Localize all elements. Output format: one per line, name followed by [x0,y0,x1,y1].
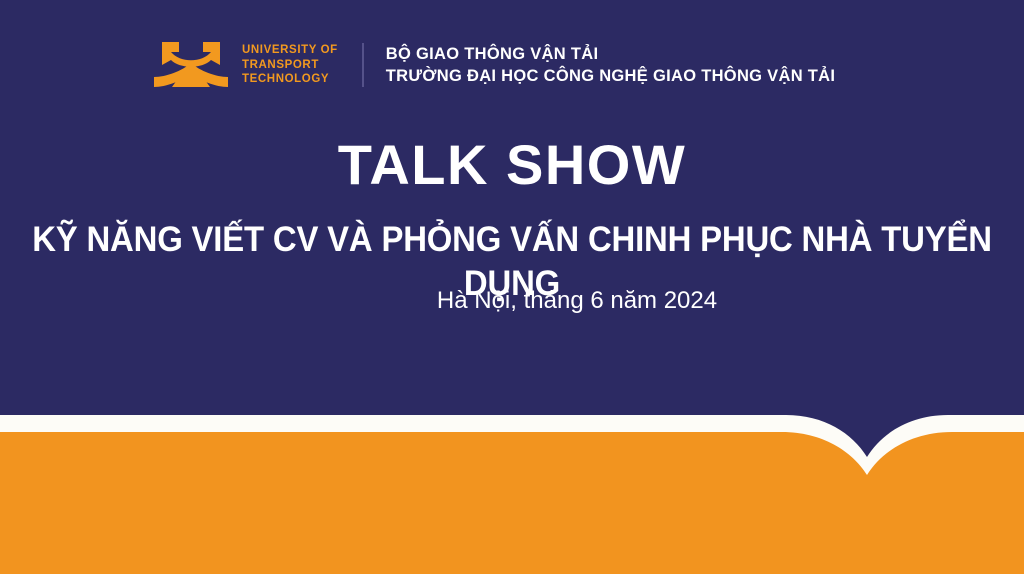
logo-wordmark: UNIVERSITY OF TRANSPORT TECHNOLOGY [242,43,338,87]
place-date-line: Hà Nội, tháng 6 năm 2024 [0,285,1024,317]
ministry-line-1: BỘ GIAO THÔNG VẬN TẢI [386,43,836,65]
ministry-name-block: BỘ GIAO THÔNG VẬN TẢI TRƯỜNG ĐẠI HỌC CÔN… [386,43,836,87]
page-title: TALK SHOW [0,134,1024,196]
place-date-text: Hà Nội, tháng 6 năm 2024 [437,285,717,317]
ministry-line-2: TRƯỜNG ĐẠI HỌC CÔNG NGHỆ GIAO THÔNG VẬN … [386,65,836,87]
brand-header: UNIVERSITY OF TRANSPORT TECHNOLOGY BỘ GI… [152,36,835,94]
open-book-bottom-banner [0,395,1024,574]
presentation-slide: UNIVERSITY OF TRANSPORT TECHNOLOGY BỘ GI… [0,0,1024,574]
utt-bridge-logo-icon [152,39,230,91]
brand-divider [362,43,364,87]
